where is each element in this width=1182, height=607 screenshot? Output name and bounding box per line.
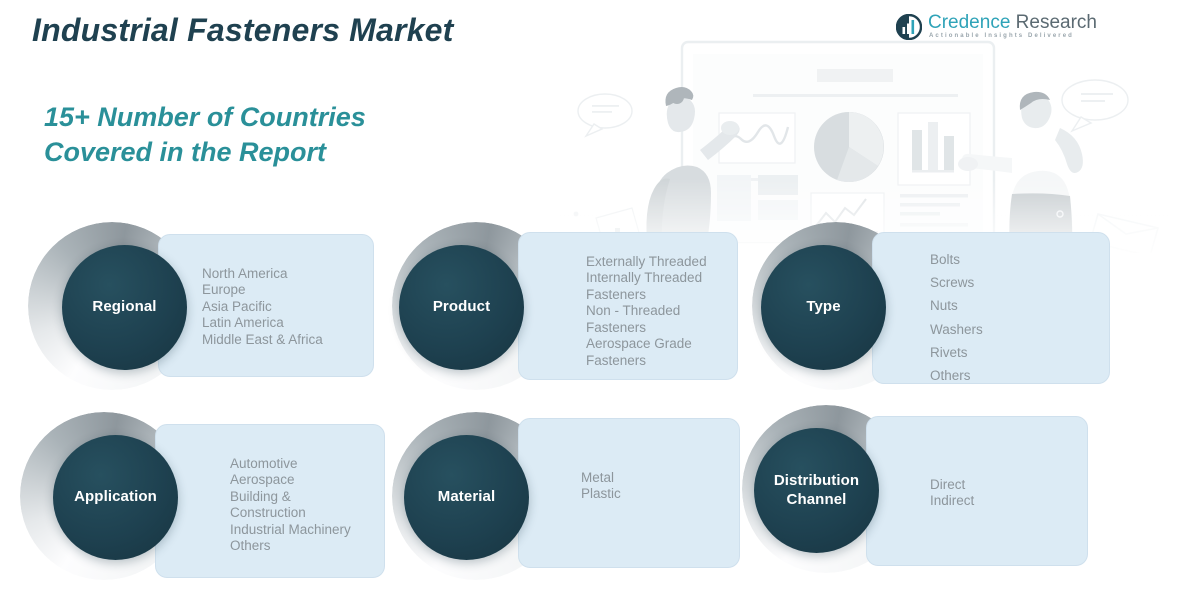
segment-items: Externally Threaded Internally Threaded … bbox=[586, 254, 766, 369]
brand-logo[interactable]: Credence Research Actionable Insights De… bbox=[896, 12, 1078, 46]
speech-bubble-left bbox=[578, 94, 632, 136]
segment-circle[interactable]: Distribution Channel bbox=[754, 428, 879, 553]
logo-wordmark: Credence Research bbox=[928, 12, 1097, 34]
segment-label: Product bbox=[433, 298, 490, 317]
segment-items: Metal Plastic bbox=[581, 470, 741, 503]
person-right bbox=[958, 92, 1083, 251]
logo-word-credence: Credence bbox=[928, 12, 1010, 33]
segment-items: North America Europe Asia Pacific Latin … bbox=[202, 266, 382, 348]
logo-word-research: Research bbox=[1010, 12, 1097, 33]
segment-items: Direct Indirect bbox=[930, 477, 1090, 510]
segment-label: Material bbox=[438, 488, 496, 507]
page-subtitle: 15+ Number of Countries Covered in the R… bbox=[44, 100, 366, 170]
segment-circle[interactable]: Application bbox=[53, 435, 178, 560]
page-title: Industrial Fasteners Market bbox=[32, 12, 454, 49]
segment-circle[interactable]: Regional bbox=[62, 245, 187, 370]
dashboard-illustration bbox=[560, 18, 1170, 253]
segment-label: Type bbox=[806, 298, 840, 317]
person-left bbox=[596, 87, 740, 253]
infographic-canvas: Industrial Fasteners Market 15+ Number o… bbox=[0, 0, 1182, 607]
segment-items: Bolts Screws Nuts Washers Rivets Others bbox=[930, 248, 1110, 387]
segment-items: Automotive Aerospace Building & Construc… bbox=[230, 456, 405, 555]
segment-label: Application bbox=[74, 488, 157, 507]
segment-circle[interactable]: Material bbox=[404, 435, 529, 560]
bar-chart-circle-icon bbox=[896, 14, 922, 40]
logo-tagline: Actionable Insights Delivered bbox=[929, 33, 1074, 39]
segment-label: Regional bbox=[92, 298, 156, 317]
segment-circle[interactable]: Product bbox=[399, 245, 524, 370]
segment-label: Distribution Channel bbox=[774, 472, 859, 510]
speech-bubble-right bbox=[1062, 80, 1128, 131]
segment-circle[interactable]: Type bbox=[761, 245, 886, 370]
